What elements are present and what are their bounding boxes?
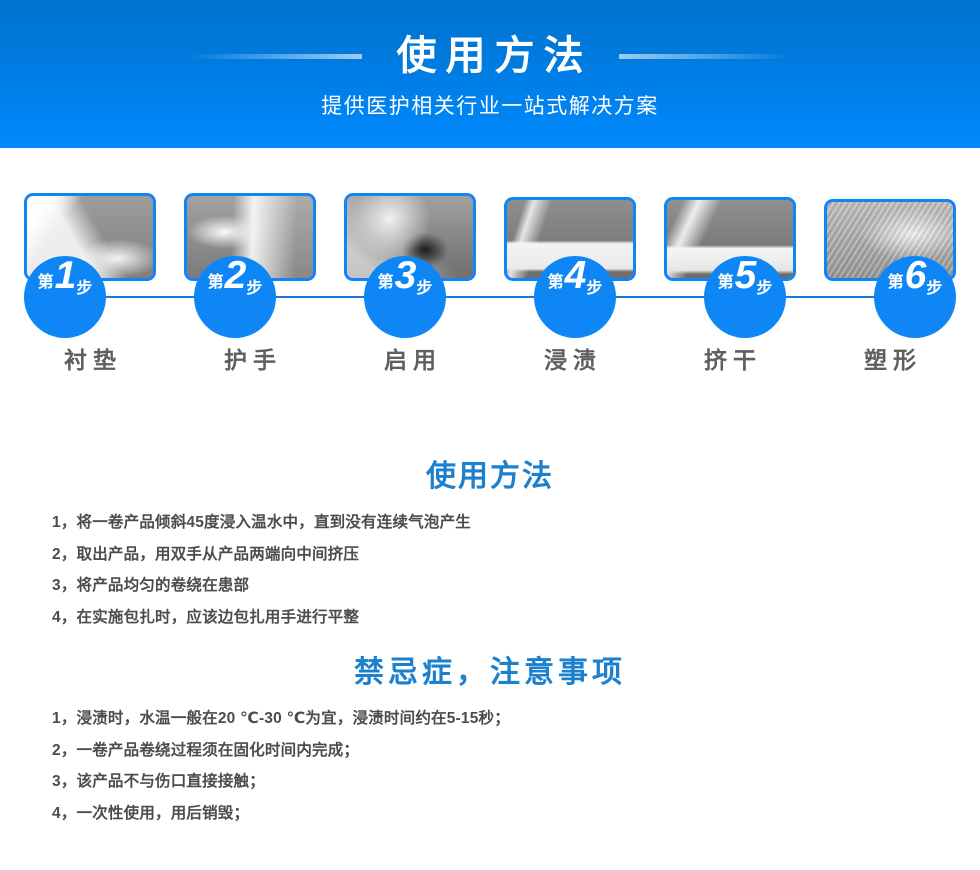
step-label-4: 浸渍: [504, 349, 636, 372]
contraindications-list: 1，浸渍时，水温一般在20 ℃-30 ℃为宜，浸渍时间约在5-15秒； 2，一卷…: [52, 711, 932, 837]
step-prefix: 第: [38, 275, 54, 291]
step-label-row: 衬垫 护手 启用 浸渍 挤干 塑形: [24, 344, 956, 376]
step-prefix: 第: [208, 275, 224, 291]
list-item: 3，将产品均匀的卷绕在患部: [52, 578, 932, 594]
step-prefix: 第: [718, 275, 734, 291]
decorative-line-right-icon: [619, 54, 787, 59]
step-number: 2: [224, 256, 247, 295]
step-label-1: 衬垫: [24, 349, 156, 372]
step-badge-3[interactable]: 第3步: [364, 256, 446, 338]
step-number: 4: [564, 256, 587, 295]
step-label-5: 挤干: [664, 349, 796, 372]
step-label-2: 护手: [184, 349, 316, 372]
step-prefix: 第: [378, 275, 394, 291]
steps-section: 第1步 第2步 第3步 第4步 第5步 第6步 衬垫 护手 启用 浸渍 挤: [0, 148, 980, 438]
contraindications-section-title: 禁忌症，注意事项: [0, 658, 980, 688]
list-item: 4，一次性使用，用后销毁；: [52, 806, 932, 822]
list-item: 2，一卷产品卷绕过程须在固化时间内完成；: [52, 743, 932, 759]
step-badge-1[interactable]: 第1步: [24, 256, 106, 338]
step-label-6: 塑形: [824, 349, 956, 372]
step-suffix: 步: [76, 281, 92, 297]
usage-section-title: 使用方法: [0, 462, 980, 492]
page-banner: 使用方法 提供医护相关行业一站式解决方案: [0, 0, 980, 148]
step-label-3: 启用: [344, 349, 476, 372]
step-prefix: 第: [888, 275, 904, 291]
list-item: 3，该产品不与伤口直接接触；: [52, 774, 932, 790]
step-prefix: 第: [548, 275, 564, 291]
page-subtitle: 提供医护相关行业一站式解决方案: [0, 90, 980, 120]
step-badge-4[interactable]: 第4步: [534, 256, 616, 338]
step-suffix: 步: [416, 281, 432, 297]
step-badge-6[interactable]: 第6步: [874, 256, 956, 338]
step-suffix: 步: [586, 281, 602, 297]
step-number: 5: [734, 256, 757, 295]
step-number: 6: [904, 256, 927, 295]
step-suffix: 步: [246, 281, 262, 297]
usage-list: 1，将一卷产品倾斜45度浸入温水中，直到没有连续气泡产生 2，取出产品，用双手从…: [52, 515, 932, 641]
step-suffix: 步: [926, 281, 942, 297]
step-suffix: 步: [756, 281, 772, 297]
step-badge-2[interactable]: 第2步: [194, 256, 276, 338]
page-title: 使用方法: [388, 36, 593, 76]
step-badge-5[interactable]: 第5步: [704, 256, 786, 338]
step-circle-row: 第1步 第2步 第3步 第4步 第5步 第6步: [24, 256, 956, 338]
decorative-line-left-icon: [194, 54, 362, 59]
step-number: 1: [54, 256, 77, 295]
list-item: 1，将一卷产品倾斜45度浸入温水中，直到没有连续气泡产生: [52, 515, 932, 531]
list-item: 2，取出产品，用双手从产品两端向中间挤压: [52, 547, 932, 563]
usage-instructions-page: 使用方法 提供医护相关行业一站式解决方案 第1步: [0, 0, 980, 870]
banner-title-row: 使用方法: [0, 28, 980, 84]
list-item: 4，在实施包扎时，应该边包扎用手进行平整: [52, 610, 932, 626]
list-item: 1，浸渍时，水温一般在20 ℃-30 ℃为宜，浸渍时间约在5-15秒；: [52, 711, 932, 727]
step-number: 3: [394, 256, 417, 295]
